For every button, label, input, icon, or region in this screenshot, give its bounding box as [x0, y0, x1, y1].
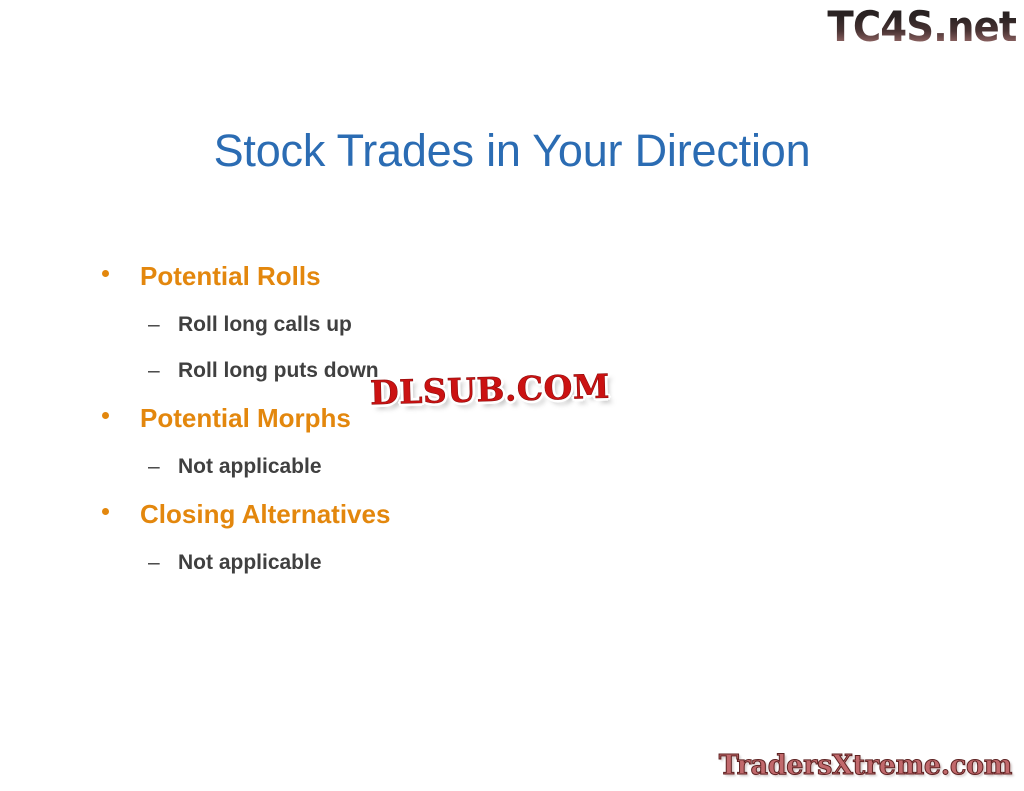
bullet-item-level1: Potential Rolls: [96, 252, 796, 302]
bullet-label: Potential Rolls: [140, 252, 321, 301]
bullet-item-level2: – Not applicable: [96, 444, 796, 490]
bullet-item-level2: – Roll long calls up: [96, 302, 796, 348]
brand-logo-tc4s: TC4S.net: [827, 2, 1016, 52]
sub-bullet-label: Not applicable: [178, 540, 322, 586]
bullet-label: Closing Alternatives: [140, 490, 390, 539]
footer-logo-tradersxtreme: TradersXtreme.com: [719, 749, 1012, 783]
watermark-dlsub: DLSUB.COM: [369, 367, 610, 414]
sub-bullet-label: Roll long puts down: [178, 348, 379, 394]
bullet-item-level1: Closing Alternatives: [96, 490, 796, 540]
bullet-list: Potential Rolls – Roll long calls up – R…: [96, 252, 796, 586]
bullet-item-level2: – Not applicable: [96, 540, 796, 586]
dash-marker-icon: –: [96, 348, 178, 394]
dash-marker-icon: –: [96, 540, 178, 586]
sub-bullet-label: Roll long calls up: [178, 302, 352, 348]
bullet-label: Potential Morphs: [140, 394, 351, 443]
page-title: Stock Trades in Your Direction: [0, 124, 1024, 178]
slide-canvas: TC4S.net Stock Trades in Your Direction …: [0, 0, 1024, 791]
bullet-dot-icon: [96, 395, 140, 444]
bullet-dot-icon: [96, 491, 140, 540]
dash-marker-icon: –: [96, 302, 178, 348]
dash-marker-icon: –: [96, 444, 178, 490]
bullet-dot-icon: [96, 253, 140, 302]
sub-bullet-label: Not applicable: [178, 444, 322, 490]
